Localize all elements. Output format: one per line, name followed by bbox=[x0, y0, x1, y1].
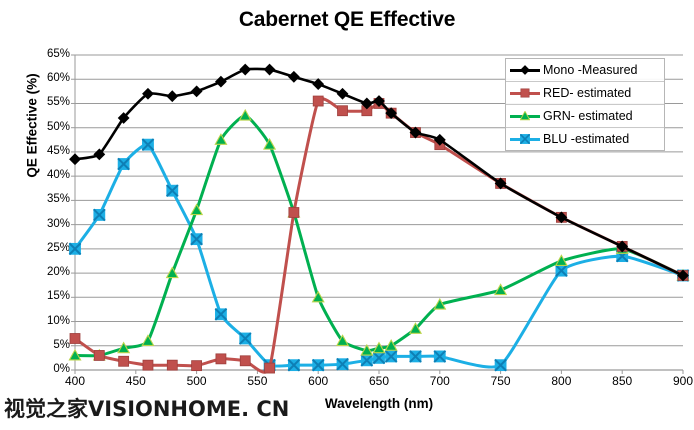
legend-item[interactable]: BLU -estimated bbox=[506, 128, 664, 150]
diamond-marker-icon bbox=[520, 65, 530, 75]
data-point-marker bbox=[69, 243, 80, 254]
legend-item[interactable]: RED- estimated bbox=[506, 82, 664, 105]
legend-swatch-x-icon bbox=[510, 131, 540, 147]
data-point-marker bbox=[288, 360, 299, 371]
square-marker bbox=[521, 89, 529, 97]
data-point-marker bbox=[521, 89, 529, 97]
data-point-marker bbox=[240, 356, 250, 366]
legend-label: Mono -Measured bbox=[543, 63, 638, 77]
legend-item[interactable]: GRN- estimated bbox=[506, 105, 664, 128]
diamond-marker bbox=[521, 66, 530, 75]
legend-label: BLU -estimated bbox=[543, 132, 629, 146]
data-point-marker bbox=[167, 360, 177, 370]
data-point-marker bbox=[556, 265, 567, 276]
data-point-marker bbox=[191, 234, 202, 245]
data-point-marker bbox=[520, 111, 529, 119]
data-point-marker bbox=[142, 139, 153, 150]
legend-label: GRN- estimated bbox=[543, 109, 633, 123]
square-marker-icon bbox=[520, 88, 530, 98]
data-point-marker bbox=[70, 334, 80, 344]
data-point-marker bbox=[119, 356, 129, 366]
legend-swatch-diamond-icon bbox=[510, 62, 540, 78]
square-marker bbox=[192, 361, 202, 371]
data-point-marker bbox=[373, 352, 384, 363]
legend-label: RED- estimated bbox=[543, 86, 631, 100]
data-point-marker bbox=[143, 360, 153, 370]
data-point-marker bbox=[167, 185, 178, 196]
data-point-marker bbox=[216, 354, 226, 364]
square-marker bbox=[338, 106, 348, 116]
square-marker bbox=[70, 334, 80, 344]
data-point-marker bbox=[337, 359, 348, 370]
data-point-marker bbox=[410, 351, 421, 362]
square-marker bbox=[216, 354, 226, 364]
data-point-marker bbox=[289, 208, 299, 218]
data-point-marker bbox=[240, 333, 251, 344]
x-marker-icon bbox=[520, 134, 530, 144]
data-point-marker bbox=[94, 209, 105, 220]
data-point-marker bbox=[265, 363, 275, 373]
chart-legend: Mono -MeasuredRED- estimatedGRN- estimat… bbox=[505, 58, 665, 151]
square-marker bbox=[289, 208, 299, 218]
watermark-text: 视觉之家VISIONHOME. CN bbox=[4, 393, 289, 423]
square-marker bbox=[94, 350, 104, 360]
square-marker bbox=[265, 363, 275, 373]
legend-swatch-square-icon bbox=[510, 85, 540, 101]
data-point-marker bbox=[338, 106, 348, 116]
data-point-marker bbox=[215, 309, 226, 320]
chart-container: Cabernet QE Effective QE Effective (%) 0… bbox=[0, 0, 694, 430]
data-point-marker bbox=[118, 158, 129, 169]
data-point-marker bbox=[434, 351, 445, 362]
legend-swatch-triangle-icon bbox=[510, 108, 540, 124]
data-point-marker bbox=[495, 360, 506, 371]
square-marker bbox=[119, 356, 129, 366]
data-point-marker bbox=[521, 66, 530, 75]
legend-item[interactable]: Mono -Measured bbox=[506, 59, 664, 82]
data-point-marker bbox=[313, 96, 323, 106]
data-point-marker bbox=[386, 351, 397, 362]
data-point-marker bbox=[94, 350, 104, 360]
triangle-marker-icon bbox=[520, 111, 530, 121]
data-point-marker bbox=[313, 360, 324, 371]
data-point-marker bbox=[361, 355, 372, 366]
data-point-marker bbox=[192, 361, 202, 371]
square-marker bbox=[167, 360, 177, 370]
square-marker bbox=[313, 96, 323, 106]
square-marker bbox=[143, 360, 153, 370]
triangle-marker bbox=[520, 111, 529, 119]
data-point-marker bbox=[520, 134, 529, 143]
square-marker bbox=[240, 356, 250, 366]
